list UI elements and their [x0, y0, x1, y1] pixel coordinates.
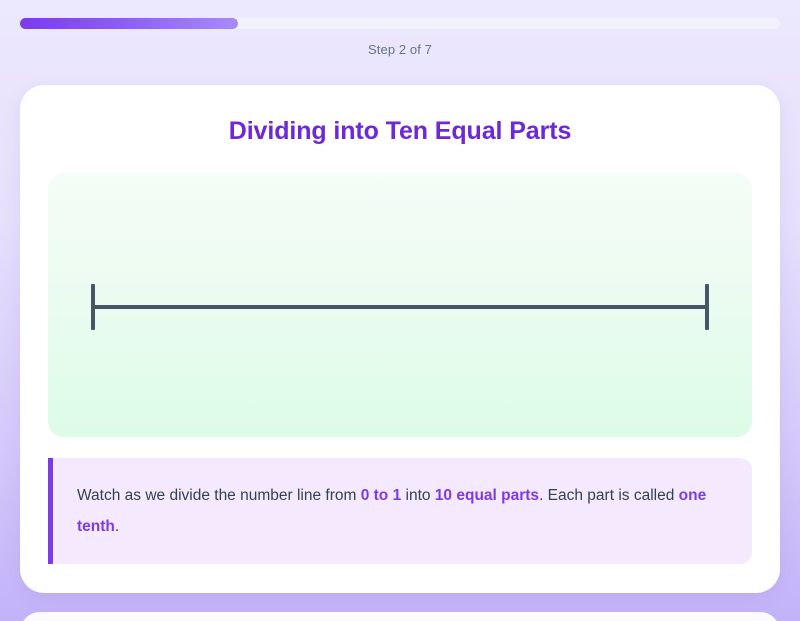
progress-bar-fill: [20, 18, 238, 29]
explanation-highlight: 10 equal parts: [435, 487, 539, 504]
numberline-visual-panel: [48, 173, 752, 437]
step-indicator-label: Step 2 of 7: [0, 42, 800, 57]
number-line-tick-end: [705, 284, 709, 330]
number-line: [91, 305, 709, 309]
number-line-tick-start: [91, 284, 95, 330]
number-line-axis: [91, 305, 709, 309]
explanation-callout: Watch as we divide the number line from …: [48, 458, 752, 564]
explanation-plain: . Each part is called: [539, 487, 679, 504]
explanation-plain: .: [115, 518, 119, 535]
next-section-card[interactable]: [20, 612, 780, 621]
explanation-plain: Watch as we divide the number line from: [77, 487, 361, 504]
explanation-highlight: 0 to 1: [361, 487, 401, 504]
explanation-plain: into: [401, 487, 435, 504]
explanation-text: Watch as we divide the number line from …: [77, 480, 726, 542]
page-title: Dividing into Ten Equal Parts: [20, 117, 780, 146]
lesson-card: Dividing into Ten Equal Parts Watch as w…: [20, 85, 780, 593]
progress-bar-track[interactable]: [20, 18, 780, 29]
